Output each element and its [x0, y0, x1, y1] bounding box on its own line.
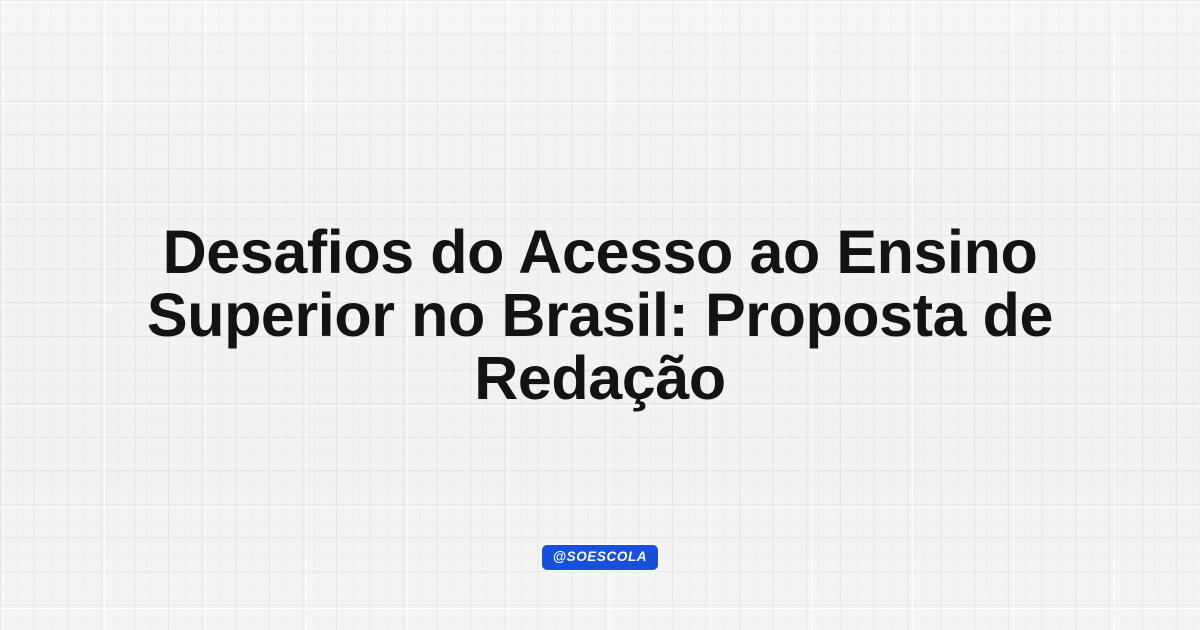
- brand-handle-badge[interactable]: @SOESCOLA: [542, 545, 658, 570]
- share-card: Desafios do Acesso ao Ensino Superior no…: [0, 0, 1200, 630]
- page-title: Desafios do Acesso ao Ensino Superior no…: [135, 221, 1065, 410]
- badge-container: @SOESCOLA: [0, 545, 1200, 570]
- card-content: Desafios do Acesso ao Ensino Superior no…: [0, 0, 1200, 630]
